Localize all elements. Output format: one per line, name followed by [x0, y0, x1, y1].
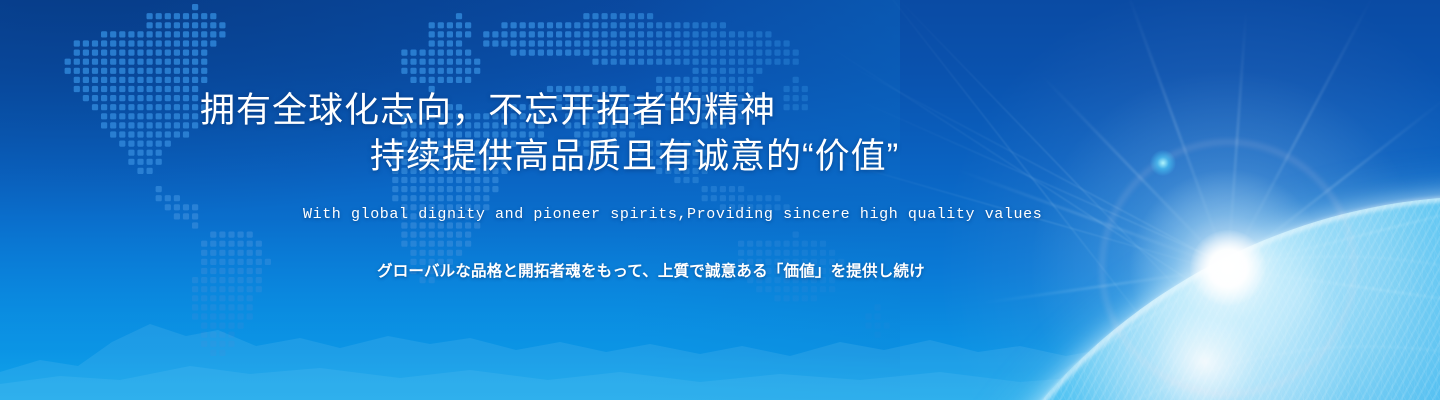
page-title: 拥有全球化志向，不忘开拓者的精神 持续提供高品质且有诚意的“价值” — [200, 88, 899, 180]
copy-block: 拥有全球化志向，不忘开拓者的精神 持续提供高品质且有诚意的“价值” With g… — [0, 0, 1440, 400]
subtitle-english: With global dignity and pioneer spirits,… — [303, 206, 1042, 223]
headline-line-2: 持续提供高品质且有诚意的“价值” — [200, 134, 899, 180]
hero-banner: 拥有全球化志向，不忘开拓者的精神 持续提供高品质且有诚意的“价值” With g… — [0, 0, 1440, 400]
subtitle-japanese: グローバルな品格と開拓者魂をもって、上質で誠意ある「価値」を提供し続け — [377, 259, 925, 281]
headline-line-1: 拥有全球化志向，不忘开拓者的精神 — [200, 91, 776, 130]
